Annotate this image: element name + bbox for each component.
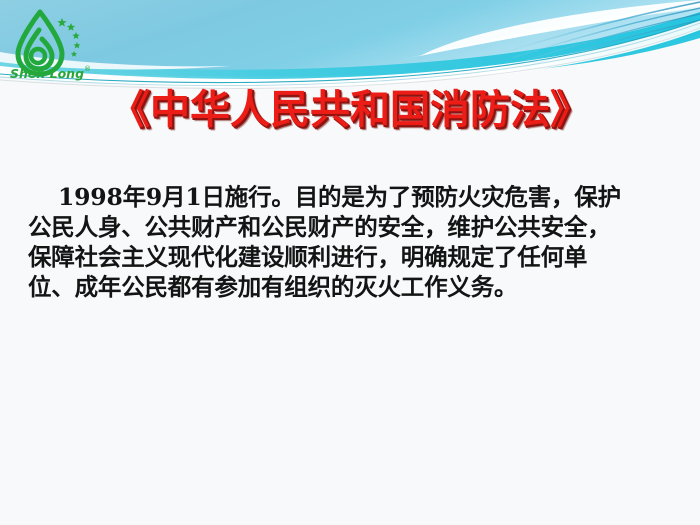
page-title: 《中华人民共和国消防法》 <box>0 89 700 131</box>
body-line-2: 公民人身、公共财产和公民财产的安全，维护公共安全， <box>28 212 676 242</box>
decorative-wave-banner <box>0 0 700 92</box>
shen-long-logo: Shen Long ® <box>6 6 102 82</box>
body-line-4: 位、成年公民都有参加有组织的灭火工作义务。 <box>28 272 676 302</box>
slide-title-text: 《中华人民共和国消防法》 <box>110 89 590 131</box>
presentation-slide: Shen Long ® 《中华人民共和国消防法》 1998年9月1日施行。目的是… <box>0 0 700 525</box>
body-line-1: 1998年9月1日施行。目的是为了预防火灾危害，保护 <box>28 182 676 212</box>
logo-brand-text: Shen Long <box>10 66 84 81</box>
registered-trademark-icon: ® <box>84 65 91 73</box>
body-line-3: 保障社会主义现代化建设顺利进行，明确规定了任何单 <box>28 242 676 272</box>
body-paragraph: 1998年9月1日施行。目的是为了预防火灾危害，保护 公民人身、公共财产和公民财… <box>28 182 676 302</box>
